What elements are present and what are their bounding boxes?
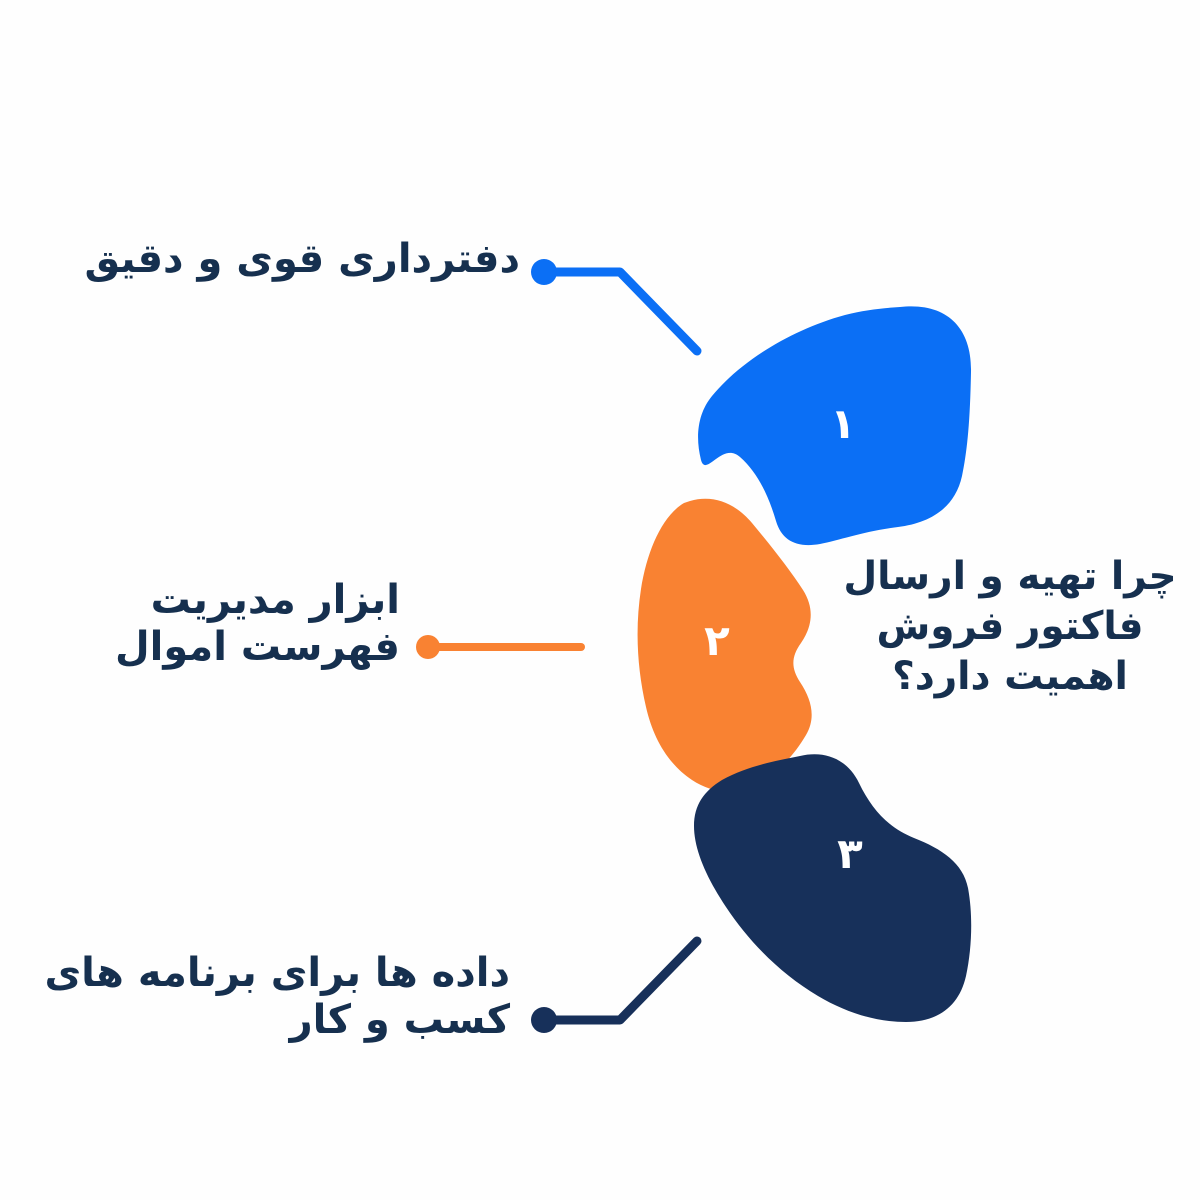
segment-2-label-line2: فهرست اموال	[50, 624, 400, 671]
page-title-line1: چرا تهیه و ارسال	[830, 552, 1190, 602]
segment-2-numeral: ۲	[687, 620, 747, 662]
segment-3-label: داده ها برای برنامه های کسب و کار	[10, 950, 510, 1044]
segment-3-label-line2: کسب و کار	[10, 997, 510, 1044]
page-title: چرا تهیه و ارسال فاکتور فروش اهمیت دارد؟	[830, 552, 1190, 702]
segment-1-label-line1: دفترداری قوی و دقیق	[50, 236, 520, 283]
segment-2-label-line1: ابزار مدیریت	[50, 577, 400, 624]
segment-3-numeral: ۳	[820, 833, 880, 875]
segment-1-label: دفترداری قوی و دقیق	[50, 236, 520, 283]
segment-3-shape[interactable]	[694, 754, 971, 1022]
page-title-line3: اهمیت دارد؟	[830, 652, 1190, 702]
connector-1-dot	[531, 259, 557, 285]
segment-3-label-line1: داده ها برای برنامه های	[10, 950, 510, 997]
segment-2-label: ابزار مدیریت فهرست اموال	[50, 577, 400, 671]
connector-1-line	[544, 272, 697, 351]
connector-3	[531, 941, 697, 1033]
segment-3-wedge[interactable]	[694, 754, 971, 1022]
segment-1-numeral: ۱	[813, 403, 873, 445]
connector-2	[416, 635, 581, 659]
connector-1	[531, 259, 697, 351]
infographic-canvas: ۱ ۲ ۳ دفترداری قوی و دقیق ابزار مدیریت ف…	[0, 0, 1200, 1200]
connector-3-dot	[531, 1007, 557, 1033]
connector-3-line	[544, 941, 697, 1020]
connector-2-dot	[416, 635, 440, 659]
page-title-line2: فاکتور فروش	[830, 602, 1190, 652]
